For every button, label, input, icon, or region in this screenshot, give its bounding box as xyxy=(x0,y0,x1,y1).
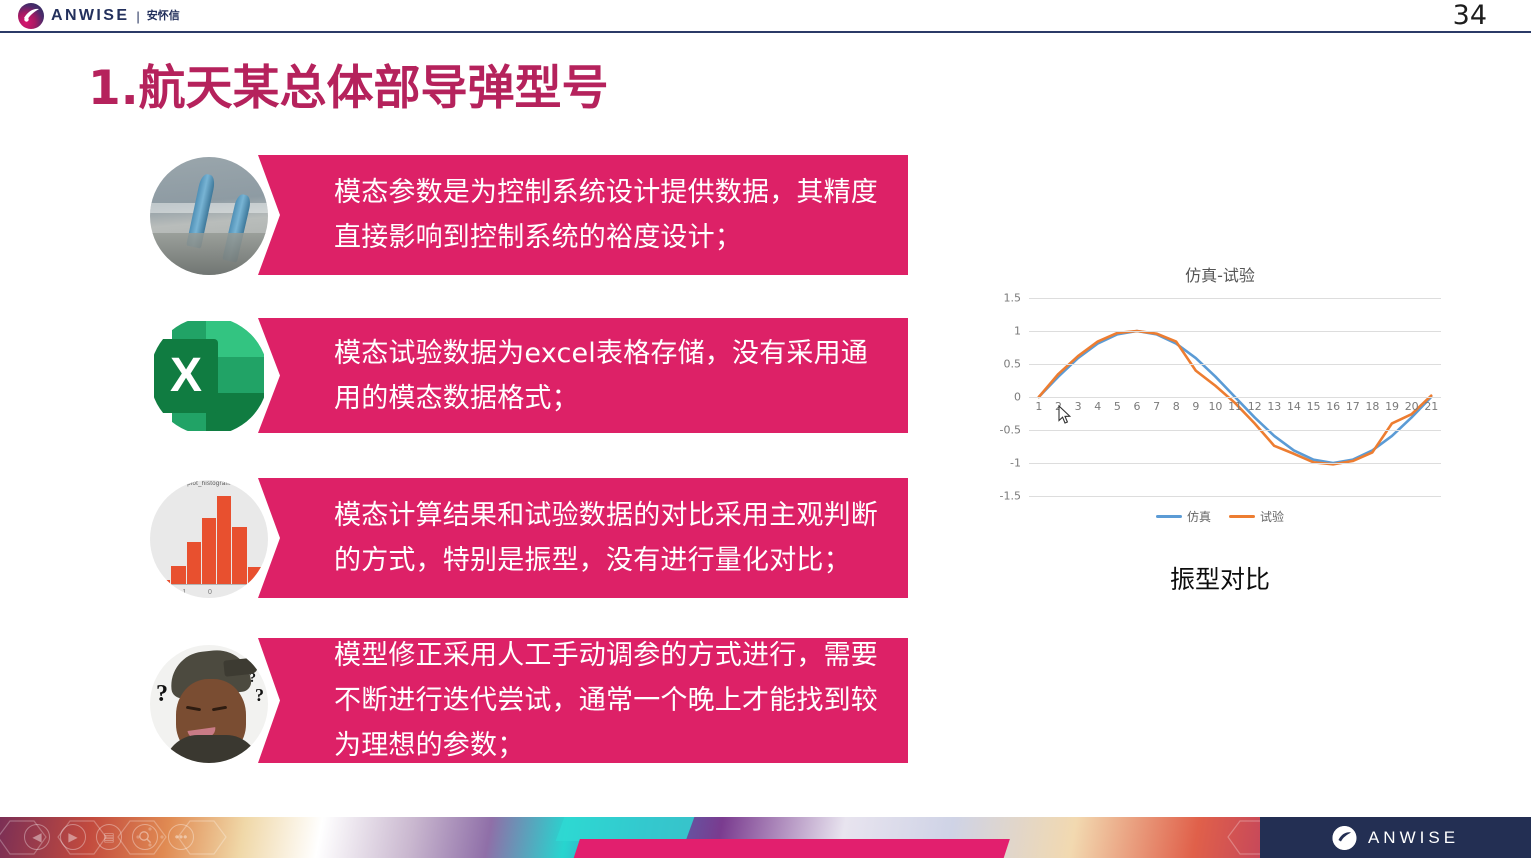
chart-y-tick-label: -0.5 xyxy=(1000,424,1029,437)
histogram-icon-caption: plot_histogram xyxy=(150,481,268,487)
logo-wordmark: ANWISE xyxy=(51,8,129,24)
histogram-icon-tick: -1 xyxy=(180,589,186,596)
chart-plot-area: 1.510.50-0.5-1-1.51234567891011121314151… xyxy=(1029,298,1441,496)
header-logo: ANWISE | 安怀信 xyxy=(18,3,180,29)
chart-x-tick-label: 18 xyxy=(1363,400,1383,413)
chart-x-axis-labels: 123456789101112131415161718192021 xyxy=(1029,400,1441,413)
legend-swatch-sim xyxy=(1156,515,1182,518)
chart-x-tick-label: 10 xyxy=(1206,400,1226,413)
mouse-pointer-icon xyxy=(1058,405,1072,425)
confused-face-icon: ? ? ? xyxy=(150,645,268,763)
legend-item-test: 试验 xyxy=(1229,508,1284,525)
page-number: 34 xyxy=(1453,1,1487,31)
chart-gridline xyxy=(1029,364,1441,365)
chart-x-tick-label: 14 xyxy=(1284,400,1304,413)
bullet-banner: 模态试验数据为excel表格存储，没有采用通用的模态数据格式； xyxy=(258,318,908,433)
chart-x-tick-label: 7 xyxy=(1147,400,1167,413)
legend-label-sim: 仿真 xyxy=(1187,508,1211,525)
chart-y-tick-label: 1.5 xyxy=(1004,292,1030,305)
bullet-text: 模型修正采用人工手动调参的方式进行，需要不断进行迭代尝试，通常一个晚上才能找到较… xyxy=(334,633,894,768)
chart-x-tick-label: 20 xyxy=(1402,400,1422,413)
legend-item-sim: 仿真 xyxy=(1156,508,1211,525)
chart-x-tick-label: 19 xyxy=(1382,400,1402,413)
bullet-row: 模型修正采用人工手动调参的方式进行，需要不断进行迭代尝试，通常一个晚上才能找到较… xyxy=(150,638,910,763)
histogram-chart-icon: plot_histogram -1 0 1 xyxy=(150,480,268,598)
chart-y-tick-label: 0.5 xyxy=(1004,358,1030,371)
chart-y-tick-label: -1.5 xyxy=(1000,490,1029,503)
next-icon[interactable]: ▶ xyxy=(60,824,86,850)
shape-icon[interactable]: ▤ xyxy=(96,824,122,850)
histogram-icon-bars xyxy=(156,492,262,584)
chart-x-tick-label: 11 xyxy=(1225,400,1245,413)
chart-gridline xyxy=(1029,331,1441,332)
more-options-icon[interactable]: ••• xyxy=(168,824,194,850)
comparison-line-chart: 仿真-试验 1.510.50-0.5-1-1.51234567891011121… xyxy=(985,262,1455,532)
legend-label-test: 试验 xyxy=(1260,508,1284,525)
chart-gridline xyxy=(1029,397,1441,398)
logo-separator: | xyxy=(136,10,139,23)
histogram-icon-tick: 1 xyxy=(240,589,244,596)
footer-brand-block: ANWISE xyxy=(1260,817,1531,858)
chart-x-tick-label: 13 xyxy=(1265,400,1285,413)
footer-pink-accent xyxy=(570,839,1010,858)
legend-swatch-test xyxy=(1229,515,1255,518)
chart-gridline xyxy=(1029,496,1441,497)
footer-cyan-accent xyxy=(556,817,695,841)
chart-x-tick-label: 17 xyxy=(1343,400,1363,413)
bullet-text: 模态参数是为控制系统设计提供数据，其精度直接影响到控制系统的裕度设计； xyxy=(334,170,894,260)
chart-x-tick-label: 9 xyxy=(1186,400,1206,413)
chart-x-tick-label: 12 xyxy=(1245,400,1265,413)
slide-canvas: ANWISE | 安怀信 34 1.航天某总体部导弹型号 模态参数是为控制系统设… xyxy=(0,0,1531,858)
bullet-banner: 模态参数是为控制系统设计提供数据，其精度直接影响到控制系统的裕度设计； xyxy=(258,155,908,275)
chart-y-tick-label: -1 xyxy=(1010,457,1029,470)
anwise-circle-logo-white-icon xyxy=(1332,826,1356,850)
bullet-text: 模态试验数据为excel表格存储，没有采用通用的模态数据格式； xyxy=(334,331,894,421)
bullet-row: 模态计算结果和试验数据的对比采用主观判断的方式，特别是振型，没有进行量化对比； … xyxy=(150,478,910,598)
bullet-row: 模态试验数据为excel表格存储，没有采用通用的模态数据格式； X xyxy=(150,318,910,433)
histogram-icon-tick: 0 xyxy=(208,589,212,596)
chart-x-tick-label: 4 xyxy=(1088,400,1108,413)
anwise-circle-logo-icon xyxy=(18,3,44,29)
chart-caption: 振型对比 xyxy=(985,560,1455,596)
chart-x-tick-label: 6 xyxy=(1127,400,1147,413)
bullet-banner: 模态计算结果和试验数据的对比采用主观判断的方式，特别是振型，没有进行量化对比； xyxy=(258,478,908,598)
bullet-text: 模态计算结果和试验数据的对比采用主观判断的方式，特别是振型，没有进行量化对比； xyxy=(334,493,894,583)
excel-logo-icon: X xyxy=(150,317,268,435)
chart-x-tick-label: 15 xyxy=(1304,400,1324,413)
chart-x-tick-label: 5 xyxy=(1108,400,1128,413)
chart-y-tick-label: 0 xyxy=(1014,391,1029,404)
bullet-row: 模态参数是为控制系统设计提供数据，其精度直接影响到控制系统的裕度设计； xyxy=(150,155,910,275)
bullet-banner: 模型修正采用人工手动调参的方式进行，需要不断进行迭代尝试，通常一个晚上才能找到较… xyxy=(258,638,908,763)
chart-x-tick-label: 1 xyxy=(1029,400,1049,413)
chart-gridline xyxy=(1029,463,1441,464)
previous-icon[interactable]: ◀ xyxy=(24,824,50,850)
logo-wordmark-cn: 安怀信 xyxy=(147,11,180,22)
footer-bar: ◀ ▶ ▤ ••• ANWISE xyxy=(0,817,1531,858)
chart-y-tick-label: 1 xyxy=(1014,325,1029,338)
top-bar: ANWISE | 安怀信 34 xyxy=(0,0,1531,33)
chart-legend: 仿真 试验 xyxy=(985,508,1455,525)
chart-x-tick-label: 8 xyxy=(1166,400,1186,413)
chart-title: 仿真-试验 xyxy=(985,262,1455,286)
footer-logo-wordmark: ANWISE xyxy=(1368,828,1459,848)
page-title: 1.航天某总体部导弹型号 xyxy=(88,58,609,120)
chart-x-tick-label: 16 xyxy=(1323,400,1343,413)
missile-photo-icon xyxy=(150,157,268,275)
search-icon[interactable] xyxy=(132,824,158,850)
footer-controls: ◀ ▶ ▤ ••• xyxy=(24,824,194,850)
chart-gridline xyxy=(1029,430,1441,431)
chart-x-tick-label: 21 xyxy=(1422,400,1442,413)
chart-gridline xyxy=(1029,298,1441,299)
